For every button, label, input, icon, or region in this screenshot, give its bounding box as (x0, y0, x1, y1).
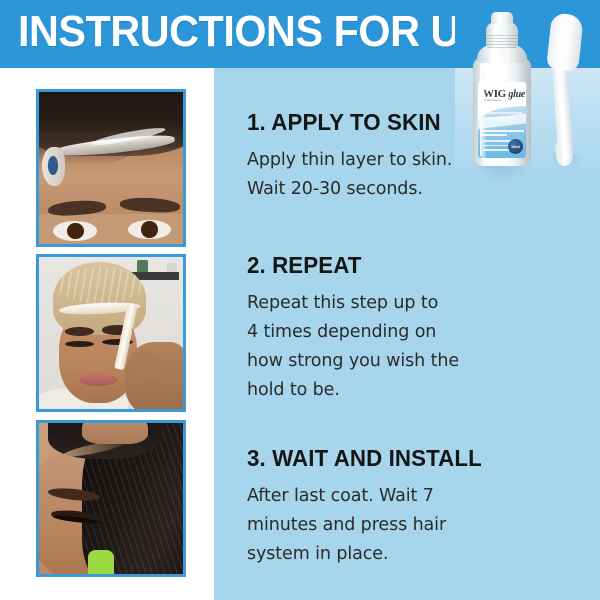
bottle-neck (486, 22, 518, 48)
photo-hand (82, 423, 148, 444)
step-1-heading: 1. APPLY TO SKIN (247, 110, 548, 134)
step-2-line: how strong you wish the (247, 347, 557, 376)
step-1-line: Wait 20-30 seconds. (247, 175, 557, 204)
step-3: 3. WAIT AND INSTALL After last coat. Wai… (247, 446, 557, 569)
photo-finished-install-content (39, 423, 183, 574)
photo-lips (79, 373, 116, 387)
photo-eye-left (53, 221, 96, 241)
step-1: 1. APPLY TO SKIN Apply thin layer to ski… (247, 110, 557, 204)
instructions-poster: INSTRUCTIONS FOR USE WIG glue Profession… (0, 0, 600, 600)
photo-repeat-application (36, 254, 186, 412)
photo-iris-right (141, 221, 157, 238)
photo-iris-left (67, 223, 83, 240)
step-2-line: 4 times depending on (247, 318, 557, 347)
step-2-line: hold to be. (247, 376, 557, 405)
steps-list: 1. APPLY TO SKIN Apply thin layer to ski… (214, 68, 600, 600)
step-2-body: Repeat this step up to 4 times depending… (247, 289, 557, 405)
photo-apply-to-skin (36, 89, 186, 247)
photo-eyebrow-left (65, 327, 94, 336)
step-1-line: Apply thin layer to skin. (247, 146, 557, 175)
step-2-line: Repeat this step up to (247, 289, 557, 318)
step-1-body: Apply thin layer to skin. Wait 20-30 sec… (247, 146, 557, 204)
step-3-line: After last coat. Wait 7 (247, 482, 557, 511)
step-3-line: system in place. (247, 540, 557, 569)
photo-finished-install (36, 420, 186, 577)
step-3-line: minutes and press hair (247, 511, 557, 540)
photo-green-garment (88, 550, 114, 574)
step-3-body: After last coat. Wait 7 minutes and pres… (247, 482, 557, 569)
photo-ear-detail (48, 156, 59, 175)
photo-ear-clip (42, 147, 65, 187)
bottle-cap (491, 12, 513, 24)
step-2-heading: 2. REPEAT (247, 253, 548, 277)
photo-eye-left (65, 341, 94, 347)
page-title: INSTRUCTIONS FOR USE (18, 6, 514, 58)
photo-apply-to-skin-content (39, 92, 183, 244)
step-2: 2. REPEAT Repeat this step up to 4 times… (247, 253, 557, 405)
spatula-blade (546, 12, 584, 71)
step-3-heading: 3. WAIT AND INSTALL (247, 446, 548, 470)
photo-repeat-application-content (39, 257, 183, 409)
